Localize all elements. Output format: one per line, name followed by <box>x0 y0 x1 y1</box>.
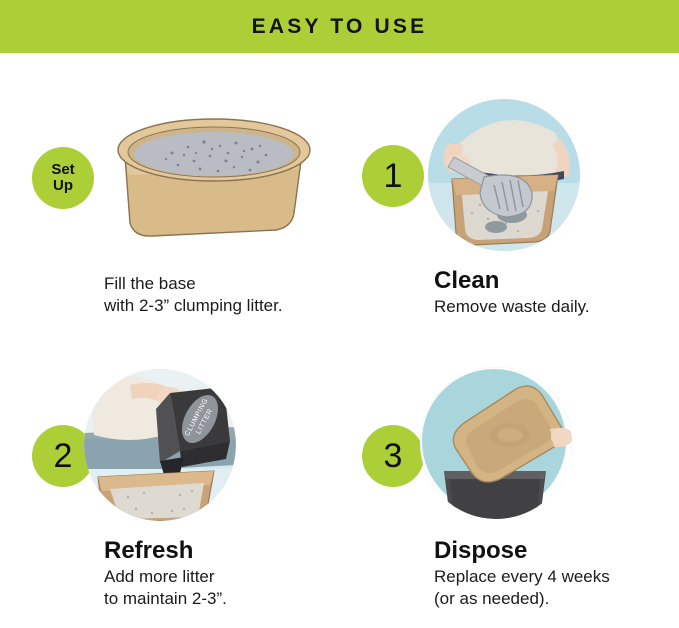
step-3-dispose: 3 <box>344 355 674 627</box>
caption-line: (or as needed). <box>434 588 610 610</box>
scooping-litter-photo <box>428 99 580 251</box>
page-title: EASY TO USE <box>252 16 428 37</box>
step-3-art-row: 3 <box>344 355 674 545</box>
litter-box-illustration <box>108 109 320 249</box>
badge-line-1: Set <box>51 162 74 178</box>
caption-line: Remove waste daily. <box>434 296 590 318</box>
badge-number: 3 <box>384 439 403 473</box>
step-title: Refresh <box>104 537 227 565</box>
step-set-up-art-row: Set Up <box>14 85 344 275</box>
step-title: Dispose <box>434 537 610 565</box>
step-badge-1: 1 <box>362 145 424 207</box>
step-1-caption: Clean Remove waste daily. <box>434 267 590 318</box>
step-badge-3: 3 <box>362 425 424 487</box>
step-3-caption: Dispose Replace every 4 weeks (or as nee… <box>434 537 610 610</box>
step-set-up-caption: Fill the base with 2-3” clumping litter. <box>104 273 283 318</box>
caption-line: Add more litter <box>104 566 227 588</box>
product-label-text: CLUMPING LITTER <box>14 355 15 356</box>
caption-line: Replace every 4 weeks <box>434 566 610 588</box>
dispose-tray-photo <box>420 367 572 519</box>
header-banner: EASY TO USE <box>0 0 679 53</box>
step-2-caption: Refresh Add more litter to maintain 2-3”… <box>104 537 227 610</box>
caption-line: with 2-3” clumping litter. <box>104 295 283 317</box>
step-set-up: Set Up <box>14 85 344 355</box>
step-badge-set-up: Set Up <box>32 147 94 209</box>
badge-line-2: Up <box>53 178 73 194</box>
step-1-clean: 1 <box>344 85 674 355</box>
pouring-litter-photo: CLUMPING LITTER <box>84 369 236 521</box>
caption-line: Fill the base <box>104 273 283 295</box>
step-title: Clean <box>434 267 590 295</box>
badge-number: 1 <box>384 159 403 193</box>
step-1-art-row: 1 <box>344 85 674 275</box>
badge-number: 2 <box>54 439 73 473</box>
caption-line: to maintain 2-3”. <box>104 588 227 610</box>
step-2-refresh: 2 <box>14 355 344 627</box>
step-2-art-row: 2 <box>14 355 344 545</box>
steps-grid: Set Up <box>0 53 679 628</box>
